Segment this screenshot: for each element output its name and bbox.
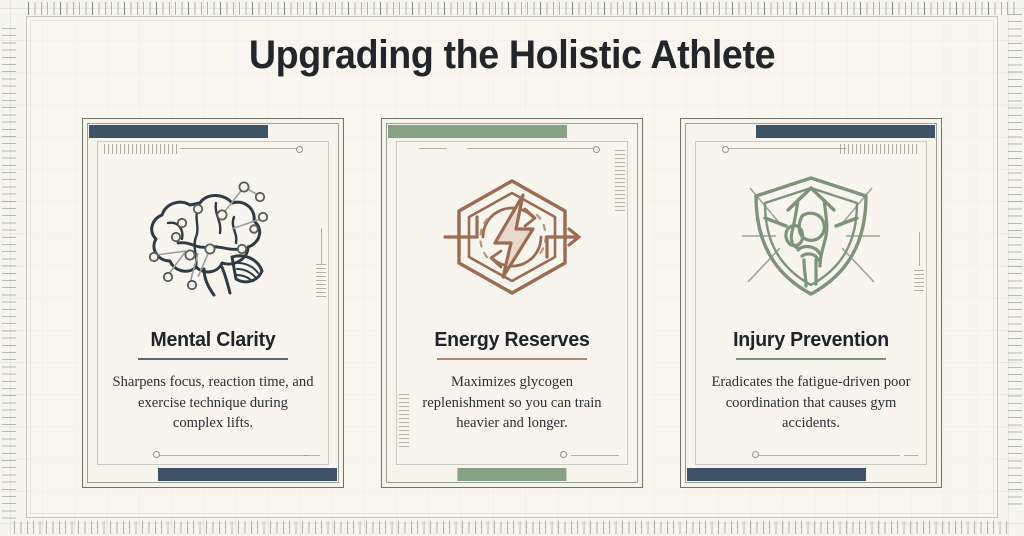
poster-page: Upgrading the Holistic Athlete (0, 0, 1024, 536)
card-mental-clarity[interactable]: Mental Clarity Sharpens focus, reaction … (82, 118, 344, 488)
card-panel: Energy Reserves Maximizes glycogen reple… (396, 141, 628, 465)
card-injury-prevention[interactable]: Injury Prevention Eradicates the fatigue… (680, 118, 942, 488)
card-panel: Injury Prevention Eradicates the fatigue… (695, 141, 927, 465)
registration-dot-top (593, 146, 600, 153)
card-accent-bar-bottom (457, 468, 566, 481)
leader-line-top-a (419, 148, 447, 149)
card-panel: Mental Clarity Sharpens focus, reaction … (97, 141, 329, 465)
card-body-text: Eradicates the fatigue-driven poor coord… (710, 372, 912, 434)
card-body-text: Maximizes glycogen replenishment so you … (411, 372, 613, 434)
leader-line-top (180, 148, 298, 149)
registration-dot-bottom (560, 451, 567, 458)
hexagon-lightning-bolt-icon (437, 171, 587, 301)
card-accent-bar-bottom (158, 468, 337, 481)
card-divider (736, 358, 886, 360)
page-title: Upgrading the Holistic Athlete (31, 33, 994, 78)
registration-dot-bottom (153, 451, 160, 458)
leader-line-top-b (467, 148, 595, 149)
card-title: Mental Clarity (109, 328, 316, 352)
card-icon-wrap (98, 156, 328, 316)
card-title: Injury Prevention (707, 328, 914, 352)
cards-row: Mental Clarity Sharpens focus, reaction … (82, 118, 942, 488)
hatch-marks-top (104, 144, 178, 154)
card-accent-bar-bottom (687, 468, 866, 481)
leader-line-corner (304, 455, 320, 456)
card-accent-bar-top (89, 125, 268, 138)
leader-line-bottom (571, 455, 619, 456)
registration-dot-top (296, 146, 303, 153)
brain-neural-network-icon (138, 171, 288, 301)
card-accent-bar-top (388, 125, 567, 138)
shield-knee-joint-icon (736, 170, 886, 302)
leader-line-bottom (758, 455, 900, 456)
card-icon-wrap (397, 156, 627, 316)
hatch-marks-top (840, 144, 920, 154)
card-body-text: Sharpens focus, reaction time, and exerc… (112, 372, 314, 434)
card-divider (437, 358, 587, 360)
card-icon-wrap (696, 156, 926, 316)
leader-line-bottom (158, 455, 308, 456)
card-accent-bar-top (756, 125, 935, 138)
registration-dot-top (722, 146, 729, 153)
card-title: Energy Reserves (408, 328, 615, 352)
leader-line-top (728, 148, 846, 149)
card-energy-reserves[interactable]: Energy Reserves Maximizes glycogen reple… (381, 118, 643, 488)
card-divider (138, 358, 288, 360)
hatch-marks-left (399, 394, 409, 448)
leader-line-corner (904, 455, 918, 456)
registration-dot-bottom (752, 451, 759, 458)
